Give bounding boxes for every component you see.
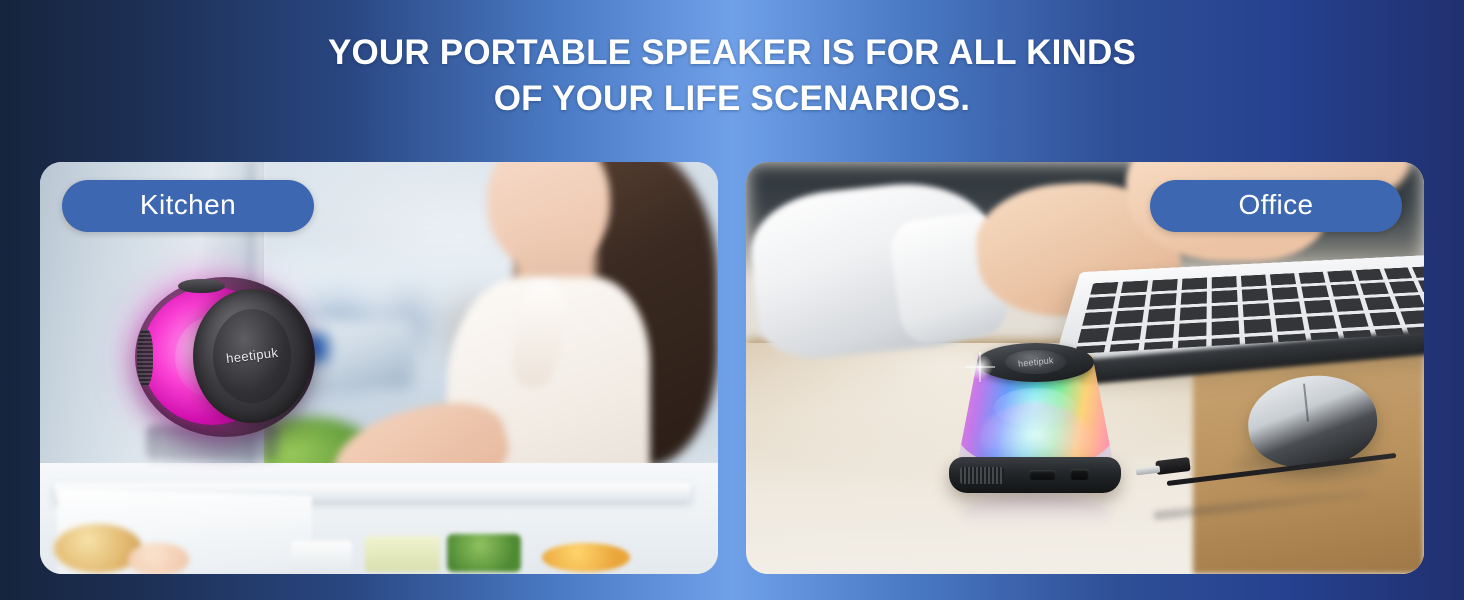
speaker-base-grille [960, 467, 1005, 484]
food-apple [54, 524, 142, 573]
headline-line-1: YOUR PORTABLE SPEAKER IS FOR ALL KINDS [0, 30, 1464, 76]
brand-logo: heetipuk [1017, 355, 1053, 369]
page-title: YOUR PORTABLE SPEAKER IS FOR ALL KINDS O… [0, 30, 1464, 122]
highlight-sparkle-icon [965, 352, 995, 382]
fridge-interior [40, 463, 718, 574]
badge-office-label: Office [1238, 189, 1313, 220]
brand-logo: heetipuk [225, 345, 279, 366]
badge-kitchen[interactable]: Kitchen [62, 180, 314, 232]
food-egg [128, 543, 189, 574]
promo-banner: YOUR PORTABLE SPEAKER IS FOR ALL KINDS O… [0, 0, 1464, 600]
food-container-4 [542, 543, 630, 572]
food-container-2 [365, 536, 440, 572]
speaker-desk-reflection [960, 493, 1111, 538]
speaker-top-driver: heetipuk [1005, 350, 1066, 374]
scenario-card-kitchen: heetipuk Kitchen [40, 162, 718, 574]
food-container-3 [447, 534, 522, 572]
portable-speaker-rgb: heetipuk [949, 343, 1121, 493]
food-container-1 [291, 541, 352, 572]
speaker-base [949, 457, 1121, 493]
badge-kitchen-label: Kitchen [140, 189, 236, 220]
portable-speaker-pink: heetipuk [135, 277, 315, 437]
headline-line-2: OF YOUR LIFE SCENARIOS. [0, 76, 1464, 122]
mouse-button-split [1303, 384, 1309, 422]
badge-office[interactable]: Office [1150, 180, 1402, 232]
speaker-charging-port [1029, 470, 1057, 480]
speaker-aux-jack [1070, 469, 1089, 481]
speaker-face: heetipuk [193, 289, 312, 423]
speaker-driver: heetipuk [213, 309, 291, 403]
scenario-card-office: heetipuk Office [746, 162, 1424, 574]
scenario-cards: heetipuk Kitchen [40, 162, 1424, 574]
speaker-grille [137, 329, 153, 387]
